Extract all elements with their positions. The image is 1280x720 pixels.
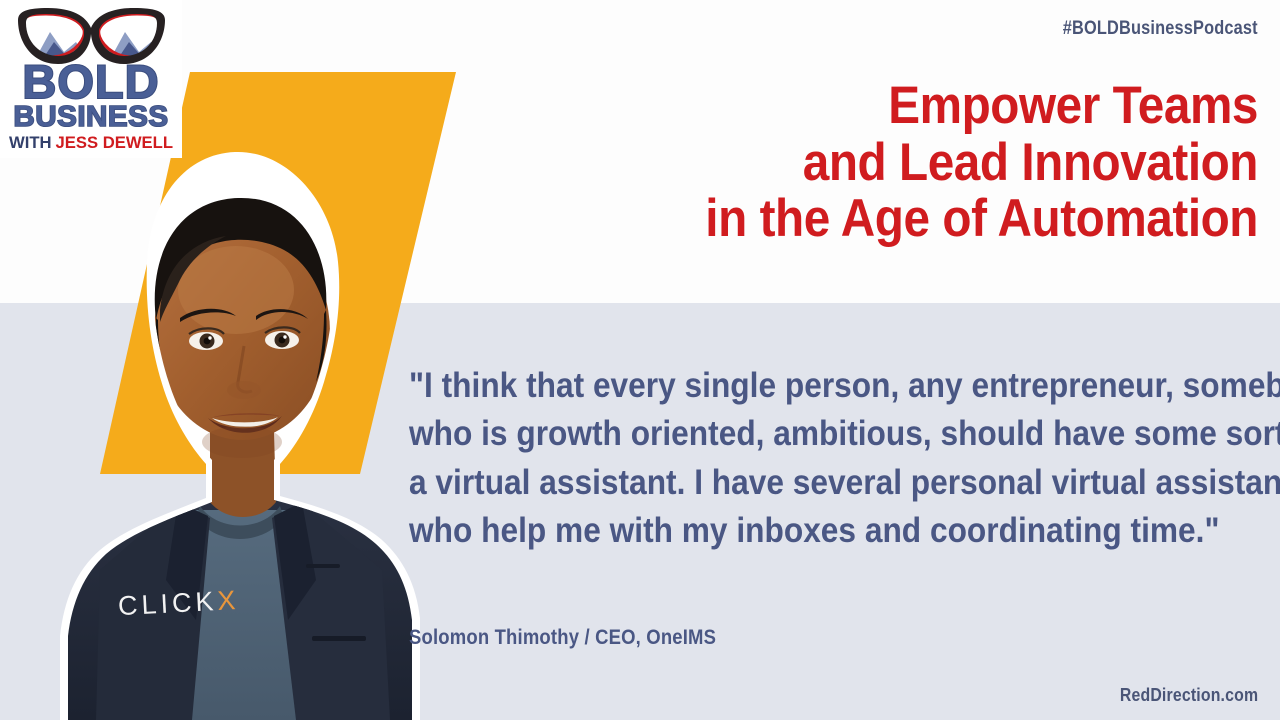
footer-website-url[interactable]: RedDirection.com	[1120, 685, 1258, 706]
logo-bold-text: BOLD	[0, 60, 182, 103]
title-line-3: in the Age of Automation	[592, 191, 1258, 248]
title-line-1: Empower Teams	[592, 78, 1258, 135]
quote-attribution: Solomon Thimothy / CEO, OneIMS	[409, 626, 716, 650]
title-line-2: and Lead Innovation	[592, 135, 1258, 192]
quote-line-3: a virtual assistant. I have several pers…	[409, 459, 1187, 507]
logo-business-text: BUSINESS	[0, 103, 184, 132]
episode-title: Empower Teams and Lead Innovation in the…	[518, 78, 1258, 248]
quote-line-1: "I think that every single person, any e…	[409, 362, 1187, 410]
bold-business-logo[interactable]: BOLD BUSINESS WITHJESS DEWELL	[0, 0, 182, 158]
logo-with-label: WITH	[9, 133, 52, 152]
episode-hashtag: #BOLDBusinessPodcast	[1063, 18, 1258, 40]
guest-quote: "I think that every single person, any e…	[409, 362, 1269, 555]
quote-line-2: who is growth oriented, ambitious, shoul…	[409, 410, 1187, 458]
guest-portrait	[60, 150, 420, 720]
promo-graphic-canvas: CLICKX	[0, 0, 1280, 720]
logo-host-name: JESS DEWELL	[55, 133, 173, 152]
quote-line-4: who help me with my inboxes and coordina…	[409, 507, 1187, 555]
logo-host-line: WITHJESS DEWELL	[2, 134, 180, 151]
logo-wordmark: BOLD BUSINESS WITHJESS DEWELL	[0, 60, 182, 151]
